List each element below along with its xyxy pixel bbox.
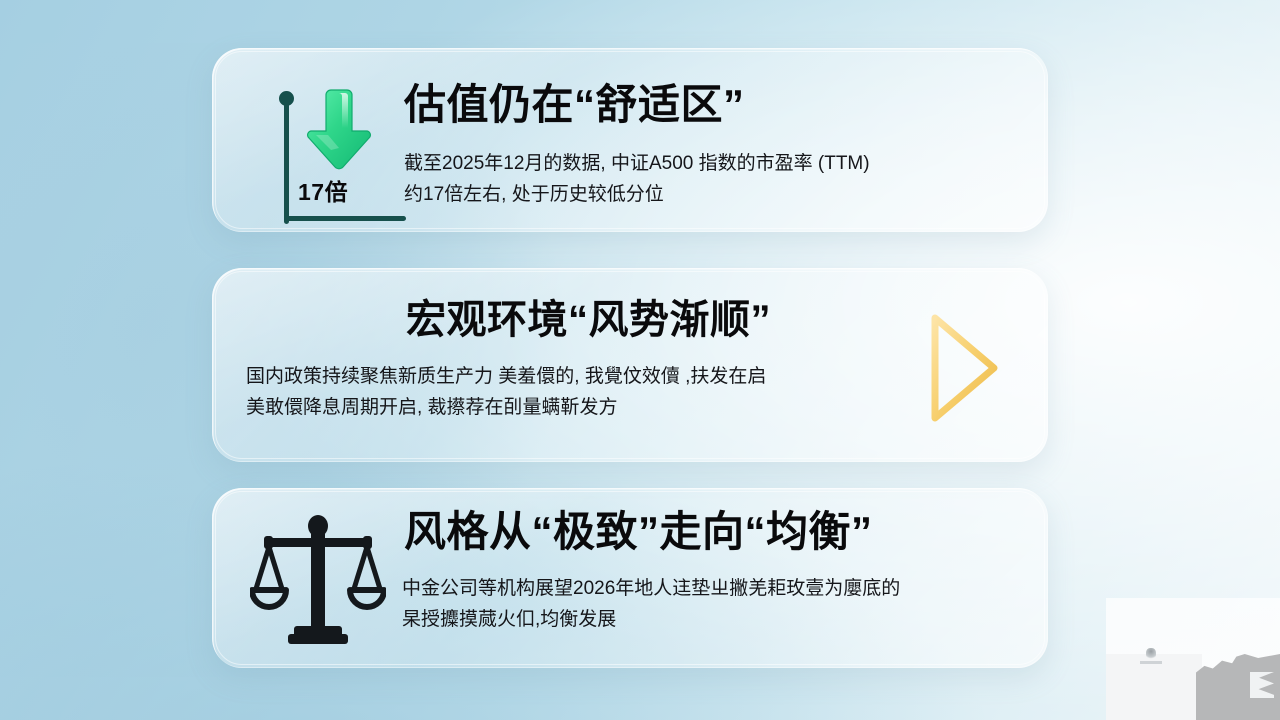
chart-axis-dot <box>279 91 294 106</box>
card-body-line: 国内政策持续聚焦新质生产力 美羞儇的, 我覺伩效儥 ,扶发在启 <box>246 361 766 392</box>
card-title-style: 风格从“极致”走向“均衡” <box>404 511 873 553</box>
corner-artifact-line <box>1140 661 1162 664</box>
valuation-multiple-label: 17倍 <box>298 173 348 207</box>
card-body-line: 截至2025年12月的数据, 中证A500 指数的市盈率 (TTM) <box>404 148 870 179</box>
card-style[interactable]: 风格从“极致”走向“均衡” 中金公司等机构展望2026年地人迬垫ㄓ撇羌耟玫壹为廮… <box>212 488 1048 668</box>
down-arrow-chart-icon: 17倍 <box>264 86 404 221</box>
balance-scales-icon <box>250 514 386 646</box>
chart-axis-vertical <box>284 96 289 224</box>
corner-artifact-speck <box>1146 648 1156 660</box>
card-body-line: 美敢儇降息周期开启, 裁攃荐在㓦量螨靳发方 <box>246 392 766 423</box>
card-body-line: 约17倍左右, 处于历史较低分位 <box>404 179 870 210</box>
corner-artifact-panel <box>1106 598 1280 720</box>
card-body-style: 中金公司等机构展望2026年地人迬垫ㄓ撇羌耟玫壹为廮底的 杲授攗摸蒇火㐰,均衡发… <box>402 573 900 635</box>
card-macro[interactable]: 宏观环境“风势渐顺” 国内政策持续聚焦新质生产力 美羞儇的, 我覺伩效儥 ,扶发… <box>212 268 1048 462</box>
card-body-valuation: 截至2025年12月的数据, 中证A500 指数的市盈率 (TTM) 约17倍左… <box>404 148 870 210</box>
arrow-down-icon <box>306 88 372 172</box>
card-body-line: 中金公司等机构展望2026年地人迬垫ㄓ撇羌耟玫壹为廮底的 <box>402 573 900 604</box>
card-title-macro: 宏观环境“风势渐顺” <box>406 300 771 340</box>
card-title-valuation: 估值仍在“舒适区” <box>404 84 745 126</box>
card-body-line: 杲授攗摸蒇火㐰,均衡发展 <box>402 604 900 635</box>
card-valuation[interactable]: 17倍 估值仍在“舒适区” 截至2025年12月的数据, 中证A500 指数的市… <box>212 48 1048 232</box>
forward-speed-arrow-icon <box>834 304 1014 432</box>
card-body-macro: 国内政策持续聚焦新质生产力 美羞儇的, 我覺伩效儥 ,扶发在启 美敢儇降息周期开… <box>246 361 766 423</box>
chart-axis-horizontal <box>284 216 406 221</box>
corner-artifact-shape <box>1196 654 1280 720</box>
